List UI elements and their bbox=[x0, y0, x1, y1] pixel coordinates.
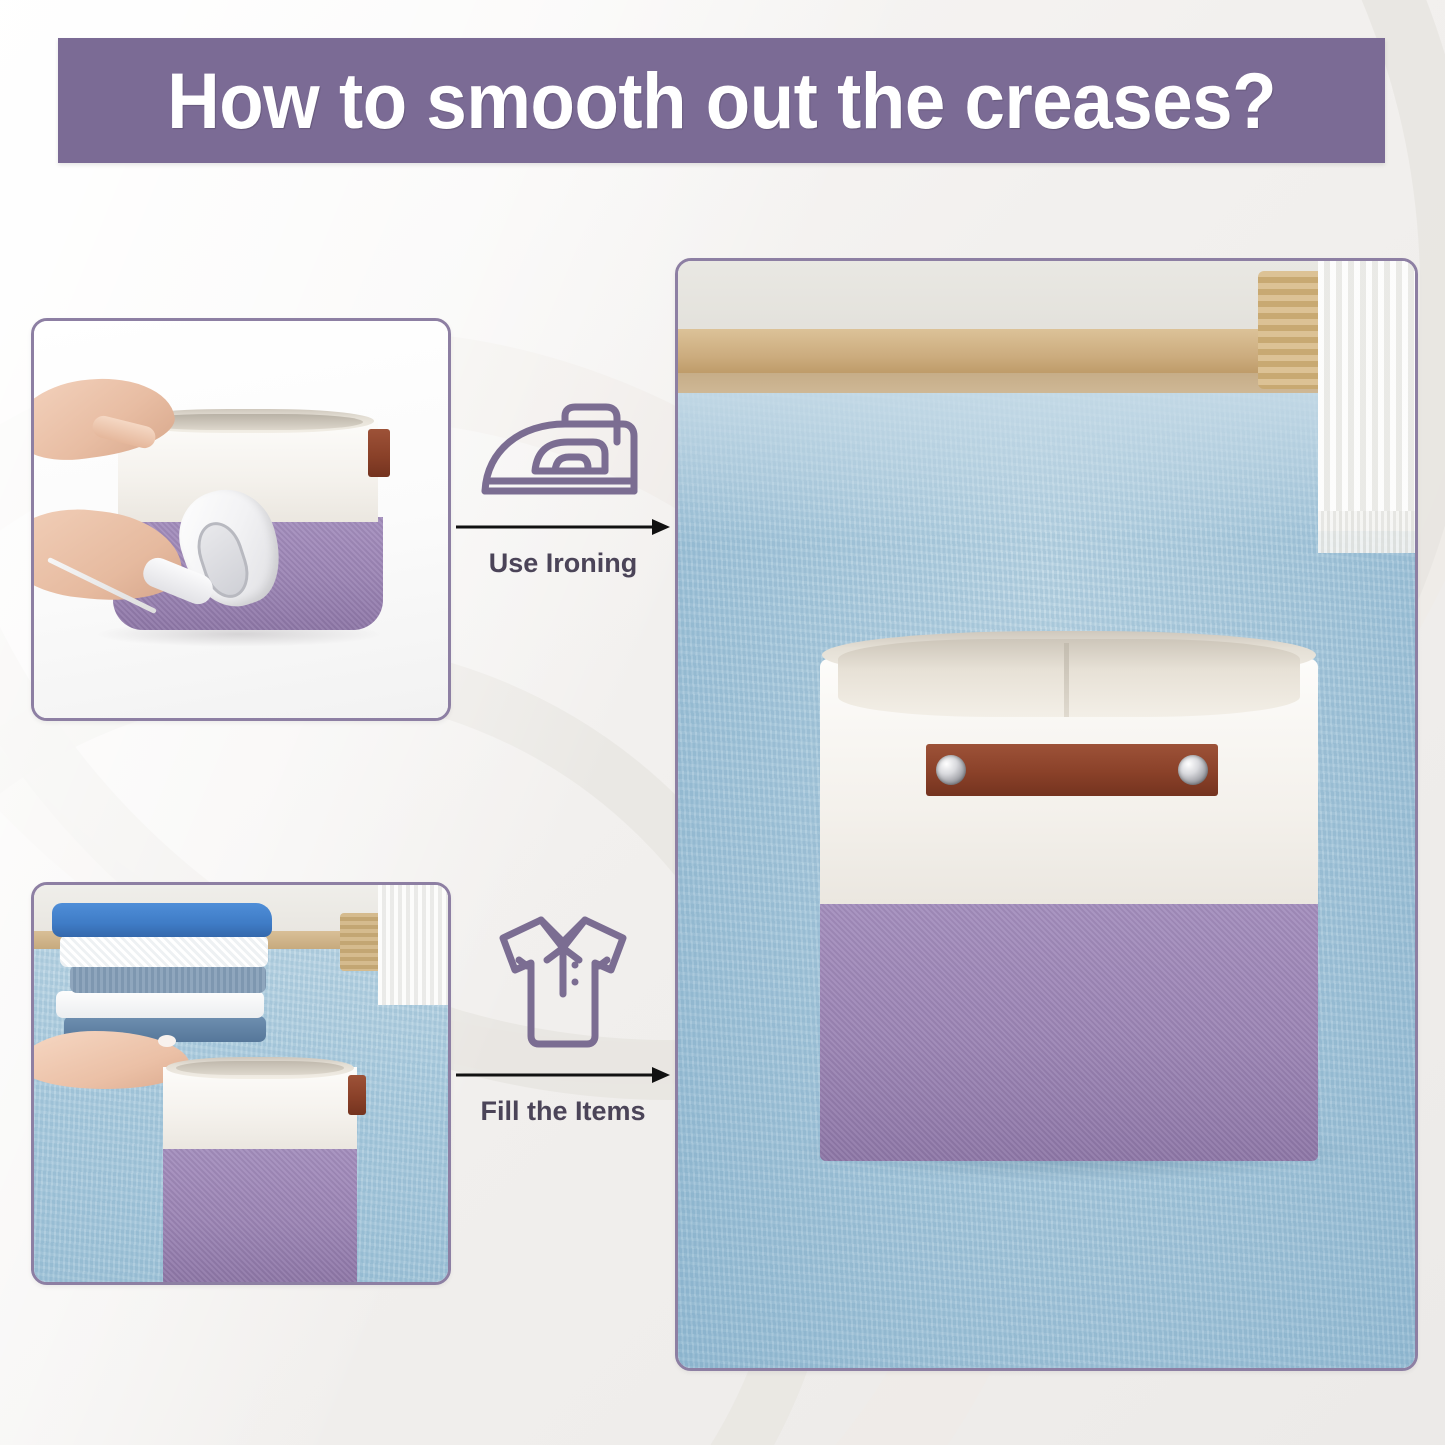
step1-photo-panel bbox=[31, 318, 451, 721]
page-title: How to smooth out the creases? bbox=[167, 55, 1276, 147]
basket-interior-lining bbox=[838, 639, 1300, 717]
curtain-fringe bbox=[1318, 511, 1415, 553]
folded-white-knit bbox=[60, 935, 268, 967]
folded-blue-shirt bbox=[52, 903, 272, 937]
basket-interior-seam bbox=[1064, 643, 1069, 717]
folded-gray-knit bbox=[70, 965, 266, 993]
basket-white-body bbox=[163, 1067, 357, 1149]
step-2-label: Fill the Items bbox=[480, 1096, 645, 1127]
folded-white-towel bbox=[56, 991, 264, 1018]
step-arrow-icon bbox=[456, 1064, 670, 1086]
white-curtain bbox=[1318, 261, 1415, 531]
steaming-basket-photo bbox=[34, 321, 448, 718]
tshirt-icon bbox=[483, 908, 643, 1058]
basket-leather-handle bbox=[926, 744, 1218, 796]
handle-rivet-right bbox=[1178, 755, 1208, 785]
fingernail bbox=[158, 1035, 176, 1047]
basket-leather-handle bbox=[348, 1075, 366, 1115]
basket-leather-handle bbox=[368, 429, 390, 477]
main-photo-panel bbox=[675, 258, 1418, 1371]
white-curtain bbox=[378, 885, 448, 1005]
step-1-label: Use Ironing bbox=[489, 548, 638, 579]
step2-photo-panel bbox=[31, 882, 451, 1285]
basket-purple-body bbox=[163, 1147, 357, 1282]
rug-far-haze bbox=[678, 393, 1415, 543]
title-banner: How to smooth out the creases? bbox=[58, 38, 1385, 163]
basket-purple-body bbox=[820, 899, 1318, 1161]
iron-icon bbox=[473, 398, 653, 510]
filling-basket-photo bbox=[34, 885, 448, 1282]
step-2-instruction: Fill the Items bbox=[451, 908, 675, 1127]
step-1-instruction: Use Ironing bbox=[451, 398, 675, 579]
step-arrow-icon bbox=[456, 516, 670, 538]
handle-rivet-left bbox=[936, 755, 966, 785]
basket-interior bbox=[176, 1061, 344, 1075]
finished-basket-photo bbox=[678, 261, 1415, 1368]
